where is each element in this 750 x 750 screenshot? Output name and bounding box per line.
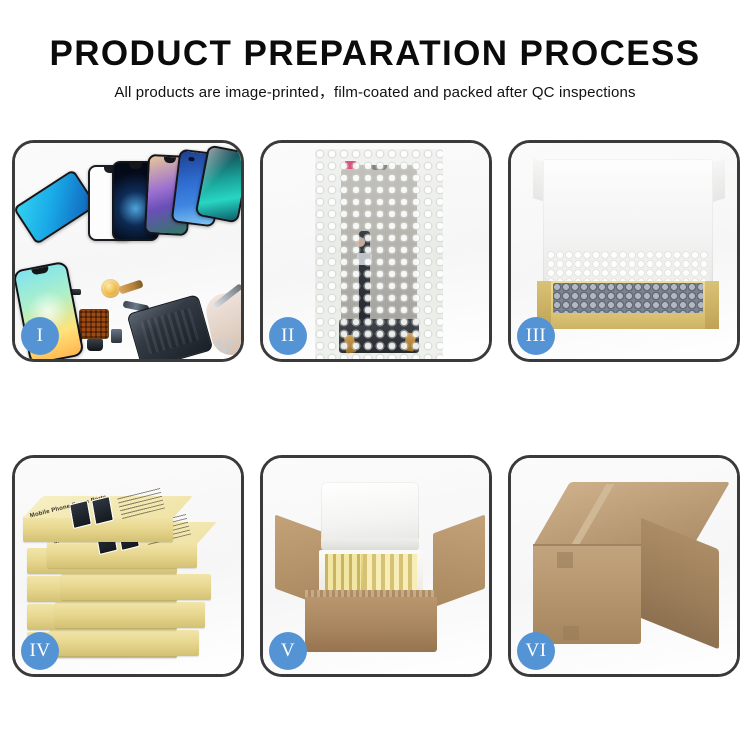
carton-tab-icon bbox=[563, 626, 579, 640]
carton-tab-icon bbox=[557, 552, 573, 568]
bubble-wrapped-contents-icon bbox=[553, 283, 703, 313]
blue-screen-icon bbox=[15, 169, 97, 245]
yellow-boxes-inside-icon bbox=[325, 554, 417, 592]
process-step-panel-1: I bbox=[12, 140, 244, 362]
stacked-box bbox=[49, 630, 199, 656]
box-printed-screen-icon bbox=[69, 500, 92, 529]
page-title: PRODUCT PREPARATION PROCESS bbox=[0, 34, 750, 74]
coil-part-icon bbox=[101, 279, 120, 298]
carton-fold-line bbox=[533, 544, 641, 546]
bubble-wrap-bag-icon bbox=[315, 149, 443, 359]
step-badge-5: V bbox=[269, 632, 307, 670]
step-badge-2: II bbox=[269, 317, 307, 355]
step-badge-4: IV bbox=[21, 632, 59, 670]
stacked-box bbox=[61, 574, 211, 600]
process-step-grid: I II bbox=[12, 140, 746, 677]
battery-part-icon bbox=[111, 329, 122, 343]
box-printed-screen-icon bbox=[91, 496, 114, 525]
page-subtitle: All products are image-printed，film-coat… bbox=[0, 83, 750, 102]
step-badge-3: III bbox=[517, 317, 555, 355]
step-badge-6: VI bbox=[517, 632, 555, 670]
product-preparation-process-page: PRODUCT PREPARATION PROCESS All products… bbox=[0, 0, 750, 750]
stacked-box bbox=[55, 602, 205, 628]
process-step-panel-4: Mobile Phone Spare Parts Mobile Phone Sp… bbox=[12, 455, 244, 677]
screws-icon bbox=[215, 339, 239, 353]
process-step-panel-5: V bbox=[260, 455, 492, 677]
process-step-panel-2: II bbox=[260, 140, 492, 362]
carton-body-icon bbox=[305, 590, 437, 652]
process-step-panel-3: III bbox=[508, 140, 740, 362]
carton-front-face-icon bbox=[533, 544, 641, 644]
earpiece-part-icon bbox=[87, 339, 103, 351]
bubble-texture bbox=[315, 149, 443, 359]
process-step-panel-6: VI bbox=[508, 455, 740, 677]
header: PRODUCT PREPARATION PROCESS All products… bbox=[0, 34, 750, 102]
step-badge-1: I bbox=[21, 317, 59, 355]
copper-mesh-part-icon bbox=[79, 309, 109, 339]
